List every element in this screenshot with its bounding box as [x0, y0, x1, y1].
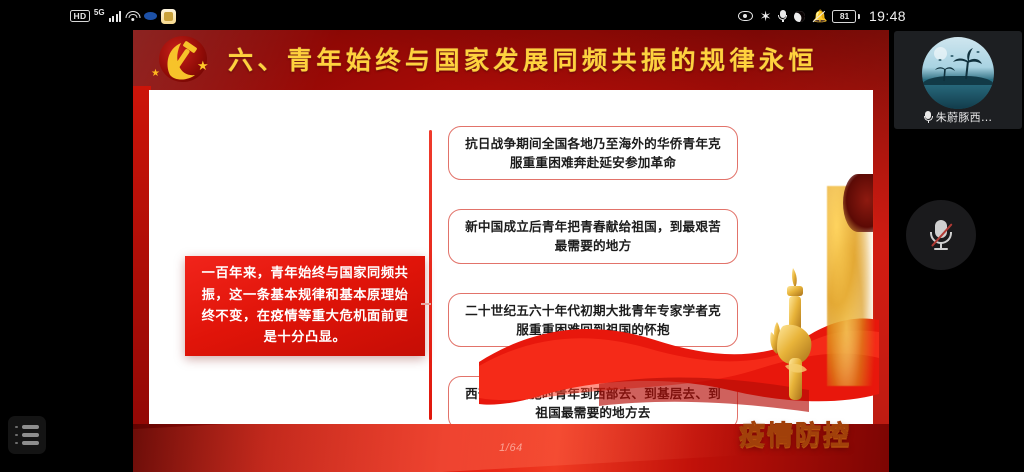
participant-list-icon — [15, 425, 38, 429]
page-indicator: 1/64 — [499, 442, 523, 454]
gold-star-small-icon: ★ — [151, 68, 160, 79]
battery-indicator: 81 — [832, 10, 860, 23]
status-bar: HD 5G ✶ 🔔 81 19:48 — [0, 0, 1024, 32]
party-emblem-icon: ★ ★ — [153, 32, 215, 86]
palm-trees-illustration — [922, 37, 994, 109]
slide-canvas: 一百年来，青年始终与国家同频共振，这一条基本规律和基本原理始终不变，在疫情等重大… — [149, 90, 873, 424]
mute-bell-icon: 🔔 — [812, 10, 825, 23]
hd-badge: HD — [70, 10, 90, 23]
point-card-1[interactable]: 抗日战争期间全国各地乃至海外的华侨青年克服重重困难奔赴延安参加革命 — [448, 126, 738, 180]
points-list: 抗日战争期间全国各地乃至海外的华侨青年克服重重困难奔赴延安参加革命 新中国成立后… — [448, 126, 752, 459]
participant-name-label: 朱蔚豚西… — [936, 109, 993, 125]
epidemic-control-watermark: 疫情防控 — [739, 415, 851, 452]
gold-star-icon: ★ — [197, 58, 209, 74]
video-call-rail: 朱蔚豚西… — [889, 0, 1024, 472]
presentation-slide[interactable]: ★ ★ 六、青年始终与国家发展同频共振的规律永恒 一百年来，青年始终与国家同频共… — [133, 30, 889, 472]
slide-title-row: ★ ★ 六、青年始终与国家发展同频共振的规律永恒 — [133, 30, 889, 88]
participant-list-button[interactable] — [8, 416, 46, 454]
eye-comfort-icon — [738, 11, 753, 21]
point-card-2[interactable]: 新中国成立后青年把青春献给祖国，到最艰苦最需要的地方 — [448, 209, 738, 263]
screen-root: HD 5G ✶ 🔔 81 19:48 — [0, 0, 1024, 472]
point-card-3-text: 二十世纪五六十年代初期大批青年专家学者克服重重困难回到祖国的怀抱 — [461, 301, 725, 339]
summary-callout-text: 一百年来，青年始终与国家同频共振，这一条基本规律和基本原理始终不变，在疫情等重大… — [197, 263, 413, 349]
battery-level-label: 81 — [840, 11, 849, 21]
participant-video-thumbnail[interactable]: 朱蔚豚西… — [894, 31, 1022, 129]
microphone-muted-icon — [930, 220, 952, 251]
microphone-icon — [778, 10, 787, 23]
bluetooth-icon: ✶ — [760, 9, 772, 23]
summary-callout: 一百年来，青年始终与国家同频共振，这一条基本规律和基本原理始终不变，在疫情等重大… — [185, 256, 425, 356]
do-not-disturb-moon-icon — [794, 11, 805, 22]
timeline-connector — [429, 130, 432, 420]
status-bar-right: ✶ 🔔 81 19:48 — [738, 0, 906, 32]
signal-bars-icon — [109, 10, 122, 22]
network-type-label: 5G — [94, 8, 105, 17]
mute-microphone-button[interactable] — [906, 200, 976, 270]
point-card-2-text: 新中国成立后青年把青春献给祖国，到最艰苦最需要的地方 — [461, 217, 725, 255]
point-card-4-text: 西部计划实施时青年到西部去、到基层去、到祖国最需要的地方去 — [461, 384, 725, 422]
status-bar-left: HD 5G — [70, 0, 176, 32]
bluetooth-data-icon — [144, 12, 157, 20]
point-card-1-text: 抗日战争期间全国各地乃至海外的华侨青年克服重重困难奔赴延安参加革命 — [461, 134, 725, 172]
point-card-4[interactable]: 西部计划实施时青年到西部去、到基层去、到祖国最需要的地方去 — [448, 376, 738, 430]
timeline-connector-stub — [421, 303, 431, 305]
app-icon — [161, 9, 176, 24]
point-card-3[interactable]: 二十世纪五六十年代初期大批青年专家学者克服重重困难回到祖国的怀抱 — [448, 293, 738, 347]
dark-edge-decoration — [843, 174, 873, 232]
golden-torch-hand-decoration — [763, 266, 827, 406]
avatar — [922, 37, 994, 109]
slide-title: 六、青年始终与国家发展同频共振的规律永恒 — [228, 44, 868, 78]
participant-name-row: 朱蔚豚西… — [894, 109, 1022, 125]
participant-microphone-icon — [924, 111, 933, 124]
wifi-icon — [125, 10, 140, 22]
